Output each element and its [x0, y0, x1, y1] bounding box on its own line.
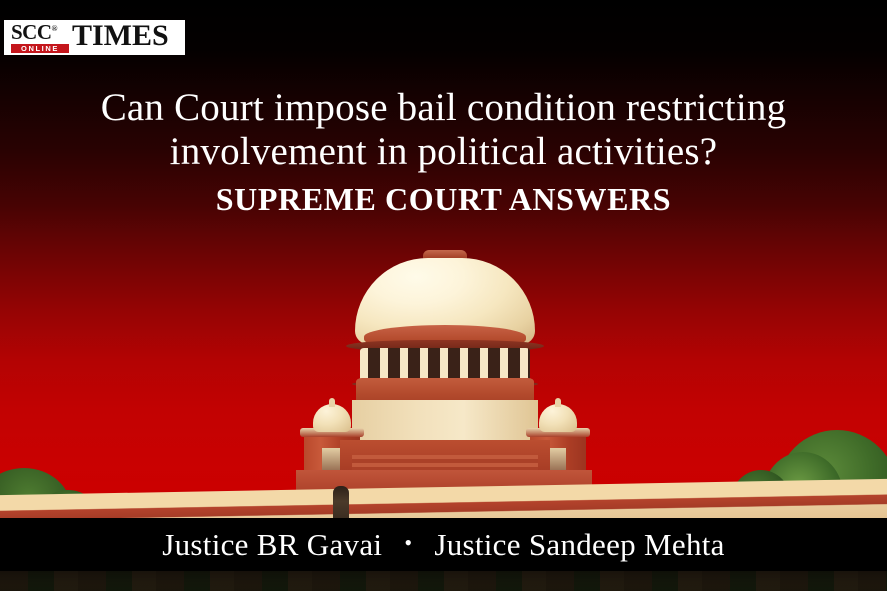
- judges-caption-text: Justice BR Gavai • Justice Sandeep Mehta: [160, 527, 726, 563]
- logo-scc-wordmark: SCC®: [11, 22, 57, 43]
- judge-name-1: Justice BR Gavai: [160, 527, 384, 563]
- registered-trademark-icon: ®: [52, 24, 57, 33]
- bullet-separator-icon: •: [404, 532, 412, 554]
- scc-online-lockup: SCC® ONLINE: [11, 22, 69, 54]
- headline-line-1: Can Court impose bail condition restrict…: [0, 86, 887, 130]
- news-graphic-poster: SCC® ONLINE TIMES Can Court impose bail …: [0, 0, 887, 591]
- person-silhouette: [333, 486, 349, 520]
- chhatri-dome: [539, 404, 577, 432]
- logo-times-wordmark: TIMES: [72, 20, 169, 53]
- headline-emphasis: SUPREME COURT ANSWERS: [0, 179, 887, 219]
- logo-online-badge: ONLINE: [11, 44, 69, 54]
- chhatri-finial: [329, 398, 335, 407]
- headline-line-2: involvement in political activities?: [0, 130, 887, 174]
- scc-online-times-logo[interactable]: SCC® ONLINE TIMES: [4, 20, 185, 55]
- judge-name-2: Justice Sandeep Mehta: [432, 527, 726, 563]
- chhatri-finial: [555, 398, 561, 407]
- logo-scc-text: SCC: [11, 20, 52, 44]
- judges-caption-bar: Justice BR Gavai • Justice Sandeep Mehta: [0, 518, 887, 571]
- bottom-photo-strip: [0, 571, 887, 591]
- headline-block: Can Court impose bail condition restrict…: [0, 86, 887, 219]
- chhatri-dome: [313, 404, 351, 432]
